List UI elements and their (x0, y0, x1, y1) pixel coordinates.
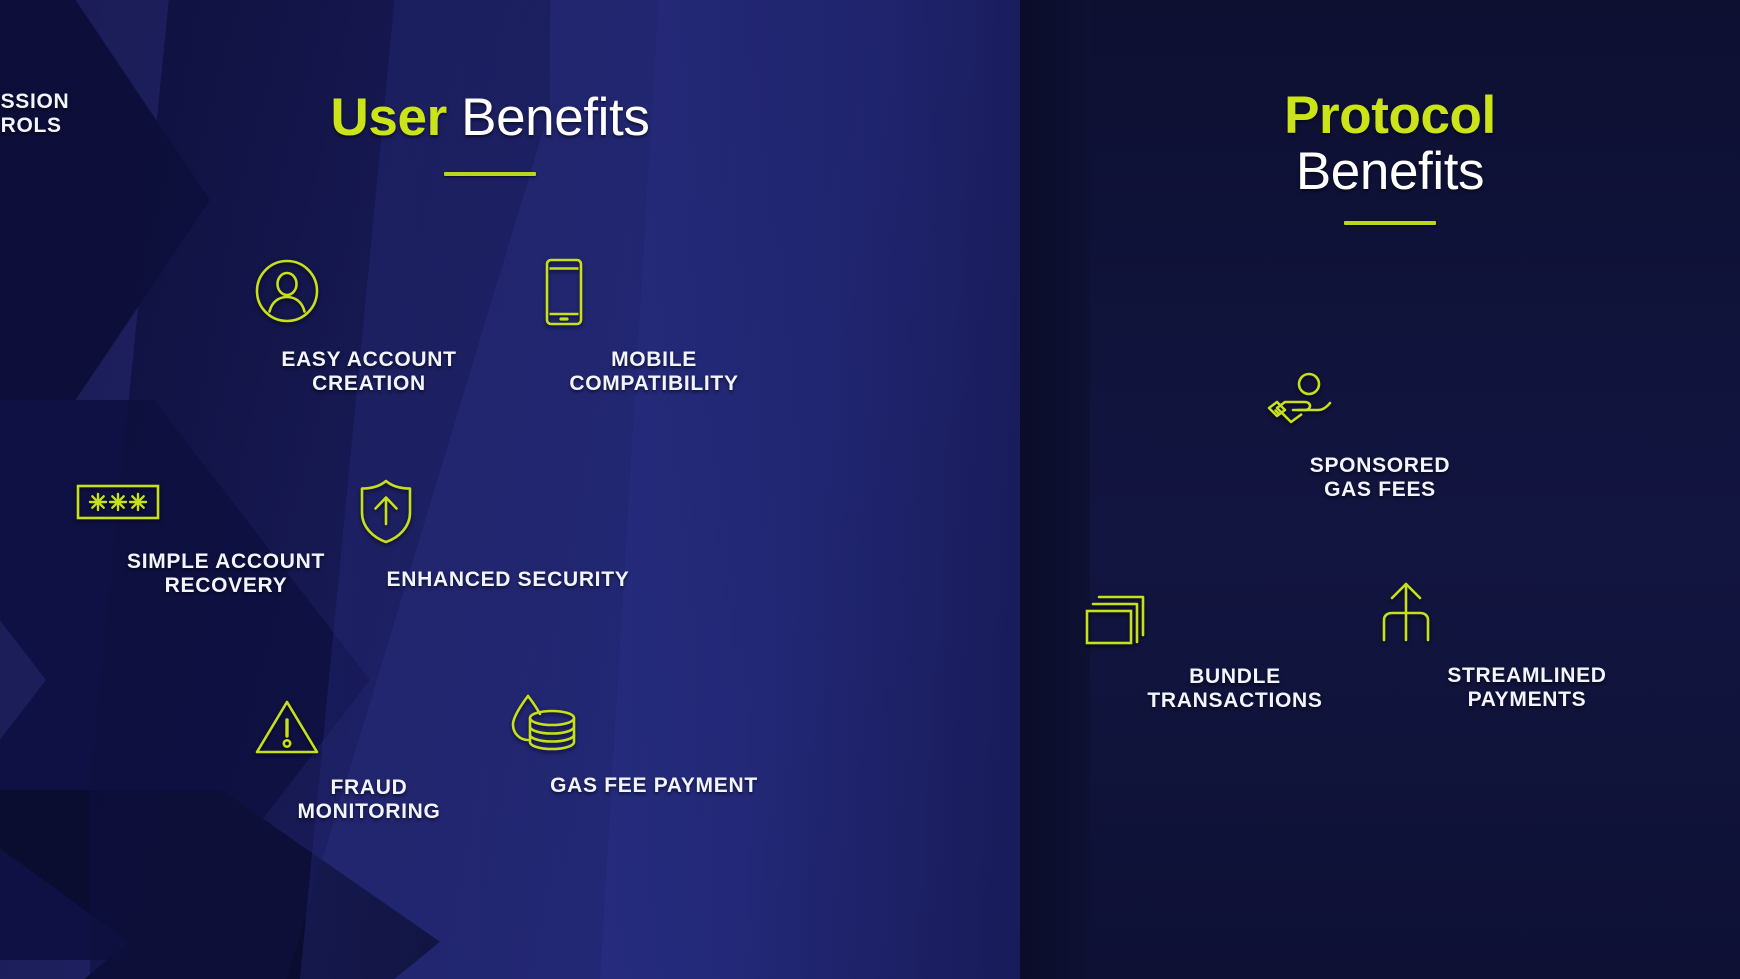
feature-enhanced-security[interactable]: ENHANCED SECURITY (358, 478, 658, 592)
feature-permission-controls[interactable]: PERMISSION CONTROLS (0, 0, 115, 139)
title-plain-word-2: Benefits (461, 88, 649, 147)
feature-gas-fee-payment[interactable]: GAS FEE PAYMENT (504, 694, 804, 798)
feature-label: SIMPLE ACCOUNT RECOVERY (76, 550, 376, 599)
infographic-slide: User Benefits Protocol Benefits EASY ACC… (0, 0, 1740, 979)
heading-divider-rule (1344, 221, 1436, 225)
warning-triangle-icon (254, 698, 484, 758)
smartphone-icon (539, 258, 769, 330)
feature-label: GAS FEE PAYMENT (504, 774, 804, 798)
feature-bundle-transactions[interactable]: BUNDLE TRANSACTIONS (1085, 585, 1385, 714)
feature-sponsored-gas-fees[interactable]: SPONSORED GAS FEES (1265, 370, 1495, 503)
protocol-benefits-heading-block: Protocol Benefits (1190, 88, 1590, 225)
title-accent-word: User (331, 88, 447, 147)
feature-streamlined-payments[interactable]: STREAMLINED PAYMENTS (1377, 580, 1677, 713)
feature-mobile-compatibility[interactable]: MOBILE COMPATIBILITY (539, 258, 769, 397)
feature-label: FRAUD MONITORING (254, 776, 484, 825)
feature-simple-account-recovery[interactable]: SIMPLE ACCOUNT RECOVERY (76, 480, 376, 599)
feature-label: PERMISSION CONTROLS (0, 90, 115, 139)
title-plain-word (447, 88, 461, 147)
feature-label: MOBILE COMPATIBILITY (539, 348, 769, 397)
feature-label: ENHANCED SECURITY (358, 568, 658, 592)
gas-droplet-coins-icon (504, 694, 804, 756)
password-field-icon (76, 480, 376, 532)
feature-easy-account-creation[interactable]: EASY ACCOUNT CREATION (254, 258, 484, 397)
stacked-layers-icon (1085, 585, 1385, 647)
gear-icon (0, 0, 115, 72)
title-plain-word: Benefits (1190, 144, 1590, 200)
heading-divider-rule (444, 172, 536, 176)
user-circle-icon (254, 258, 484, 330)
feature-label: STREAMLINED PAYMENTS (1377, 664, 1677, 713)
feature-label: EASY ACCOUNT CREATION (254, 348, 484, 397)
feature-fraud-monitoring[interactable]: FRAUD MONITORING (254, 698, 484, 825)
merge-arrow-up-icon (1377, 580, 1677, 646)
user-benefits-title: User Benefits (190, 90, 790, 146)
hand-holding-coin-icon (1265, 370, 1495, 436)
protocol-benefits-title: Protocol Benefits (1190, 88, 1590, 199)
title-accent-word: Protocol (1190, 88, 1590, 144)
shield-arrow-up-icon (358, 478, 658, 550)
user-benefits-heading-block: User Benefits (190, 90, 790, 176)
feature-label: BUNDLE TRANSACTIONS (1085, 665, 1385, 714)
feature-label: SPONSORED GAS FEES (1265, 454, 1495, 503)
